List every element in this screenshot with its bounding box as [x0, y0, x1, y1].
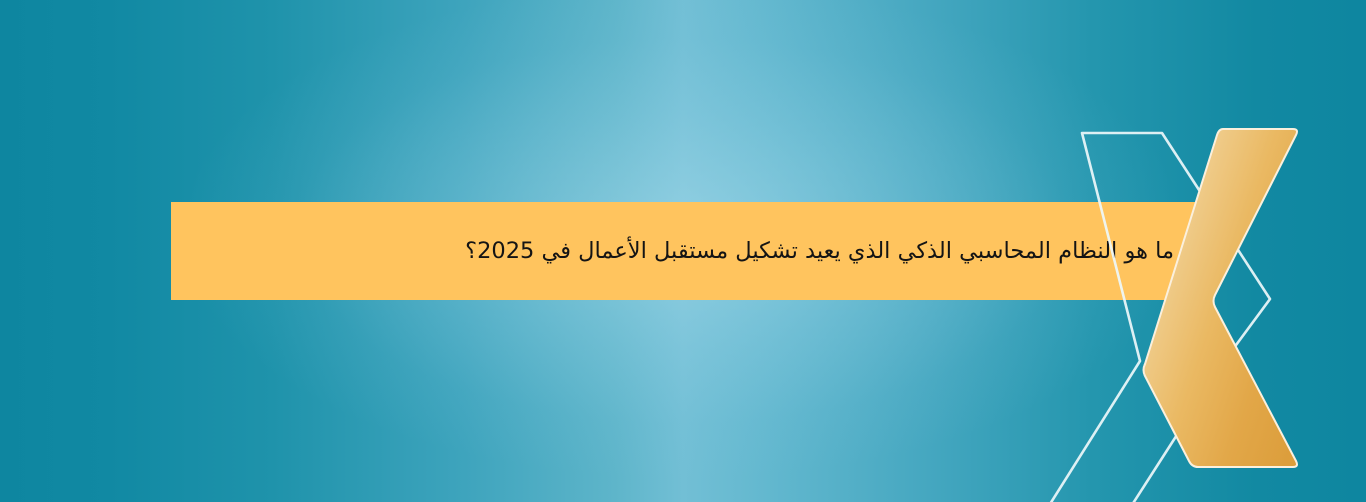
headline-container: ما هو النظام المحاسبي الذكي الذي يعيد تش…	[171, 202, 1200, 300]
headline-text: ما هو النظام المحاسبي الذكي الذي يعيد تش…	[465, 235, 1174, 268]
banner-canvas: ما هو النظام المحاسبي الذكي الذي يعيد تش…	[0, 0, 1366, 502]
